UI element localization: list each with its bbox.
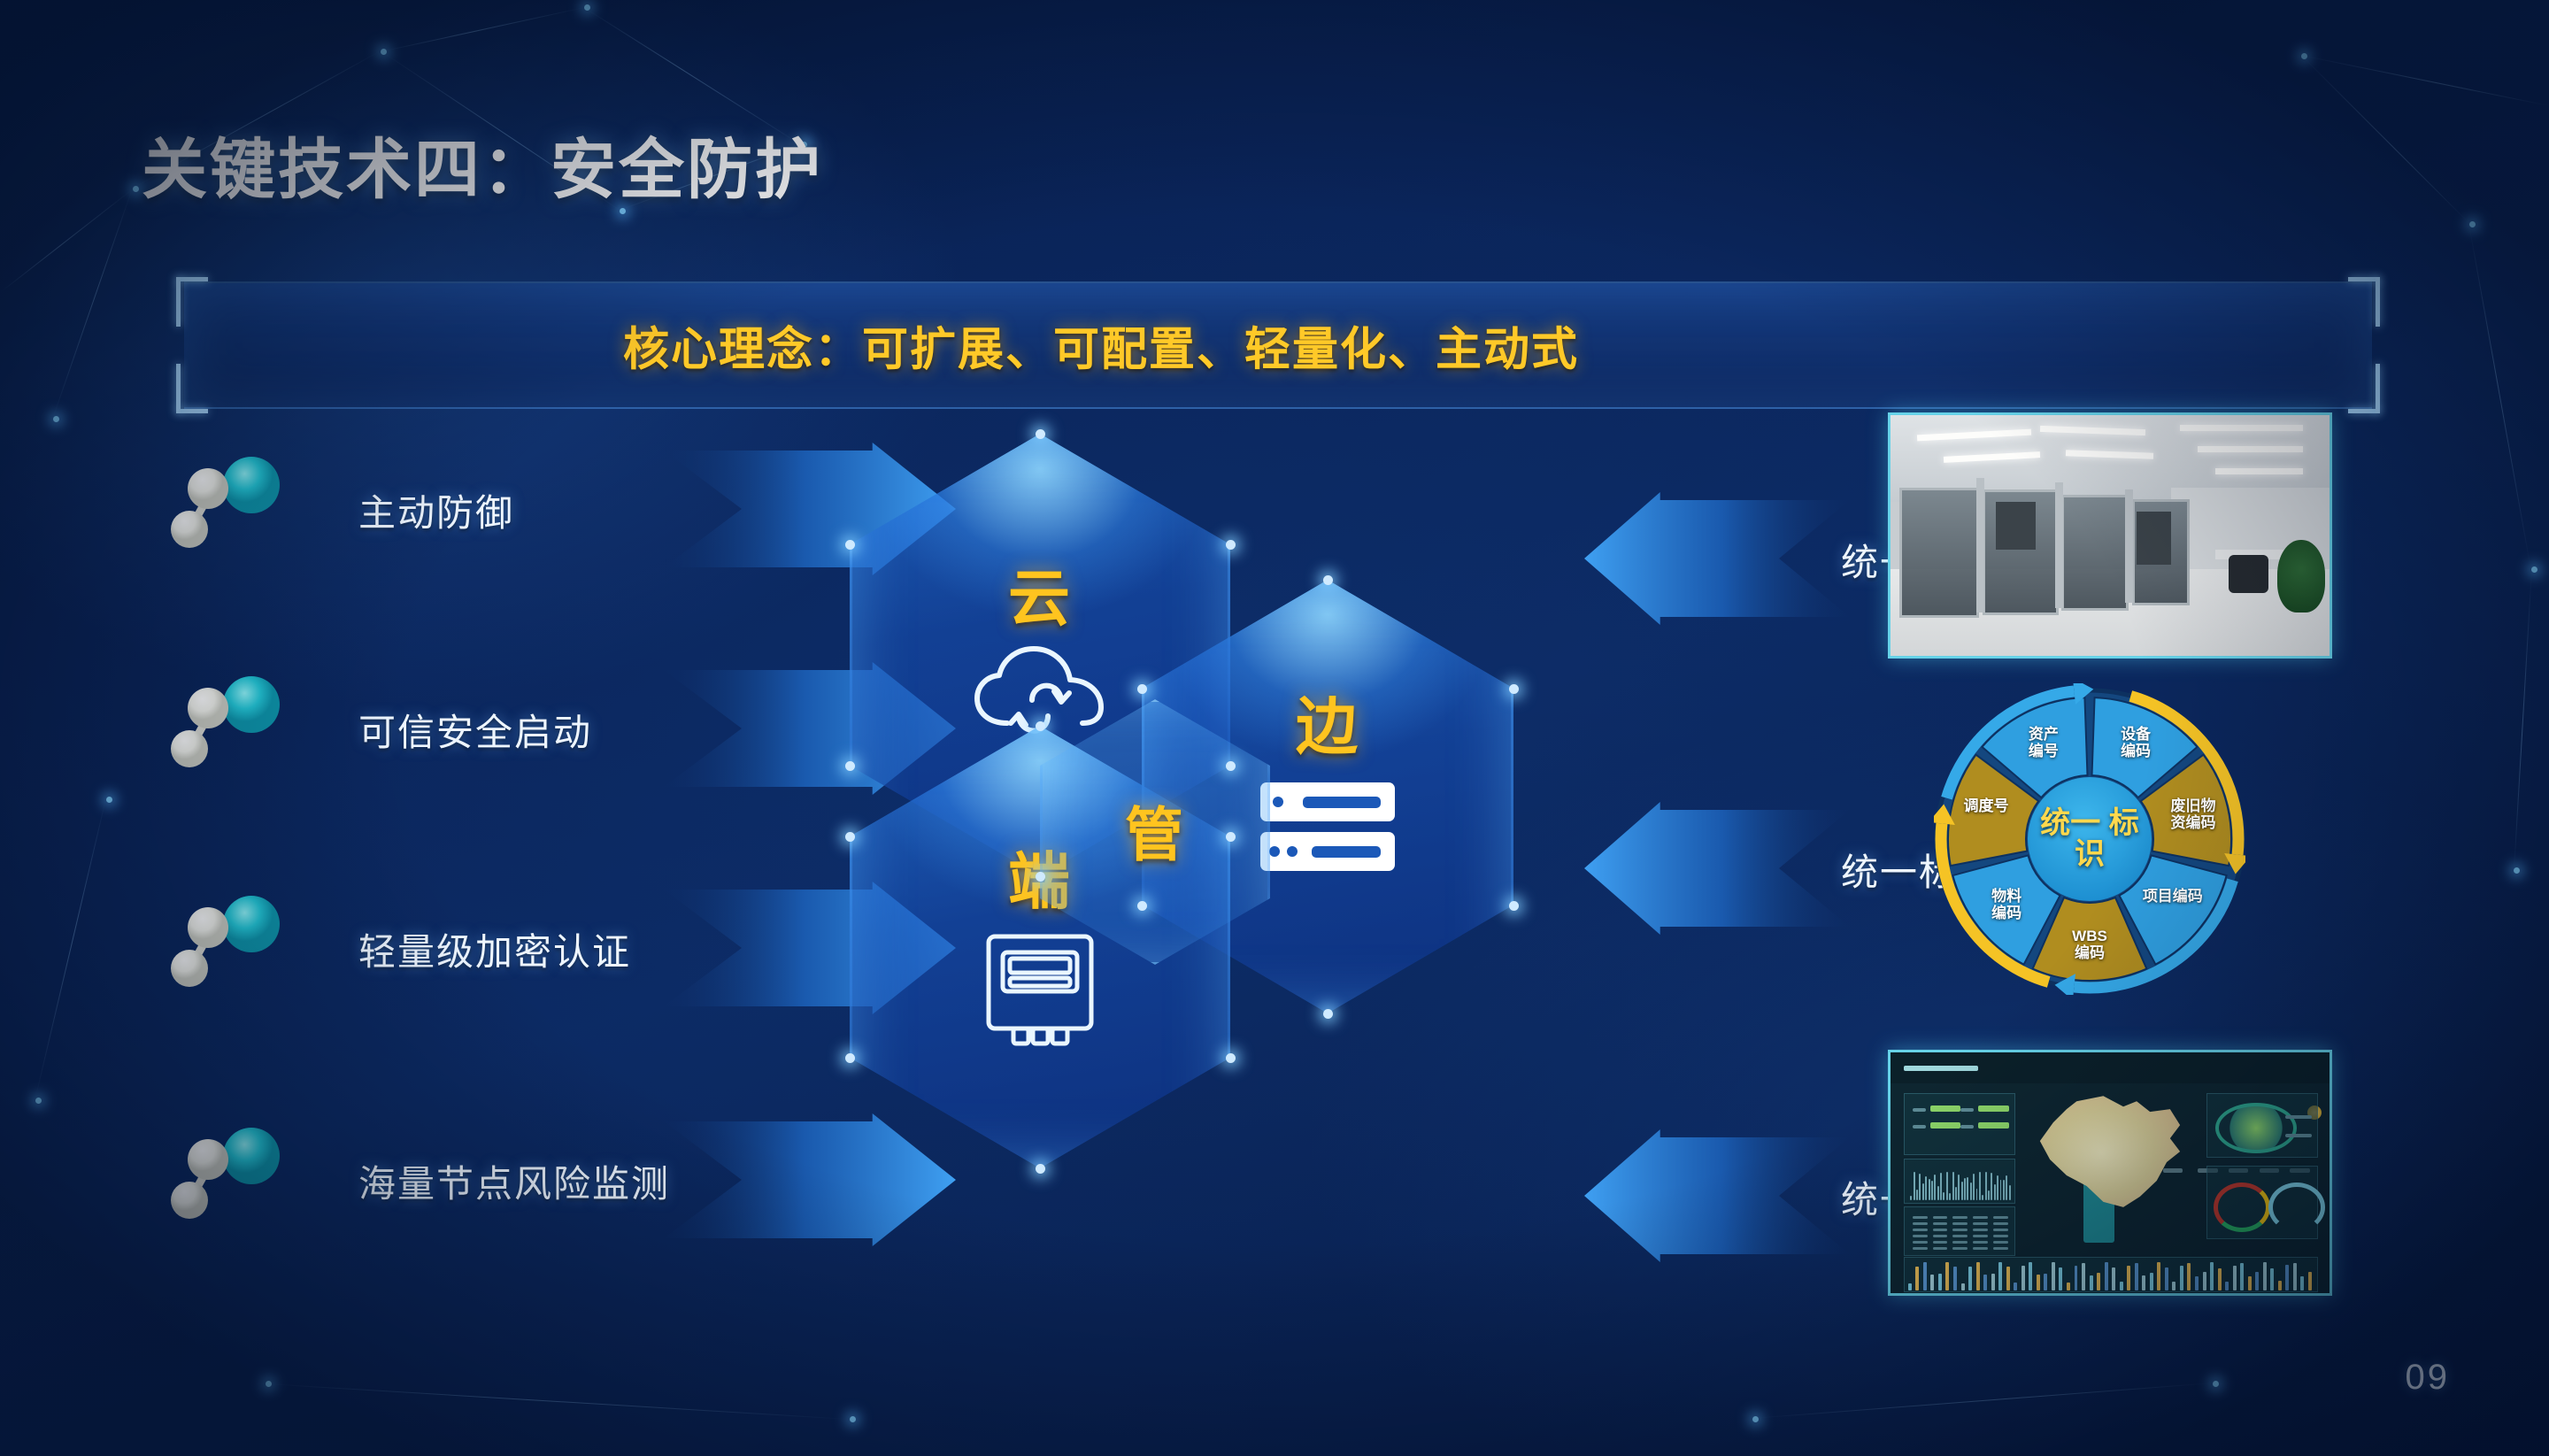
dashboard-menu-item[interactable] <box>2163 1168 2183 1173</box>
core-concept-text: 核心理念：可扩展、可配置、轻量化、主动式 <box>184 312 2372 379</box>
smart-meter-icon <box>978 929 1102 1054</box>
data-center-photo <box>1888 412 2332 659</box>
network-line <box>1752 1383 2213 1419</box>
network-line <box>52 189 133 419</box>
network-line <box>2301 55 2549 106</box>
network-line <box>0 189 134 293</box>
hexagon-vertex-dot <box>845 761 855 771</box>
monitoring-dashboard-screenshot <box>1888 1050 2332 1296</box>
unified-identification-wheel: 设备 编码废旧物 资编码项目编码WBS 编码物料 编码调度号资产 编号统一 标识 <box>1934 683 2245 995</box>
dashboard-title <box>1904 1066 1978 1071</box>
network-node <box>2469 221 2476 227</box>
hexagon-vertex-dot <box>1226 832 1236 842</box>
page-title: 关键技术四：安全防护 <box>142 117 823 212</box>
donut-segment-label: 废旧物 资编码 <box>2152 797 2234 831</box>
hexagon-vertex-dot <box>1323 1009 1333 1019</box>
hexagon-vertex-dot <box>1509 901 1519 911</box>
network-node <box>2213 1381 2219 1387</box>
feature-label: 海量节点风险监测 <box>358 1154 670 1208</box>
hexagon-vertex-dot <box>1226 761 1236 771</box>
hexagon-vertex-dot <box>845 832 855 842</box>
dashboard-donut-gauge-1 <box>2214 1183 2271 1232</box>
network-node <box>133 186 139 192</box>
arrow-left <box>1584 802 1850 935</box>
page-number: 09 <box>2406 1358 2451 1398</box>
hexagon-vertex-dot <box>1036 721 1045 731</box>
feature-label: 轻量级加密认证 <box>358 922 631 976</box>
hexagon-vertex-dot <box>1137 901 1147 911</box>
arrow-left <box>1584 1129 1850 1262</box>
network-node <box>1752 1416 1759 1422</box>
network-line <box>2514 569 2532 870</box>
network-node <box>584 4 590 11</box>
molecule-icon-wrap <box>168 892 301 998</box>
donut-segment-label: 设备 编码 <box>2095 726 2176 759</box>
hexagon-vertex-dot <box>1323 575 1333 585</box>
molecule-icon <box>168 1124 301 1230</box>
network-node <box>2531 566 2537 573</box>
network-line <box>266 1383 850 1420</box>
hexagon-vertex-dot <box>1509 684 1519 694</box>
network-node <box>106 797 112 803</box>
network-line <box>2468 224 2531 569</box>
core-concept-banner: 核心理念：可扩展、可配置、轻量化、主动式 <box>184 281 2372 409</box>
molecule-icon <box>168 673 301 779</box>
donut-segment-label: 资产 编号 <box>2003 726 2084 759</box>
molecule-icon-wrap <box>168 1124 301 1230</box>
arrow-left-icon <box>1584 492 1850 625</box>
hexagon-vertex-dot <box>1036 1164 1045 1174</box>
donut-segment-label: 项目编码 <box>2132 888 2214 905</box>
network-node <box>53 416 59 422</box>
feature-row-left[interactable]: 可信安全启动 <box>168 673 841 788</box>
donut-center-label: 统一 标识 <box>2028 808 2152 869</box>
arrow-left-icon <box>1584 1129 1850 1262</box>
feature-row-left[interactable]: 主动防御 <box>168 453 841 568</box>
network-line <box>2301 55 2470 224</box>
feature-row-left[interactable]: 海量节点风险监测 <box>168 1124 841 1239</box>
arrow-left-icon <box>1584 802 1850 935</box>
molecule-icon <box>168 892 301 998</box>
feature-label: 可信安全启动 <box>358 703 592 757</box>
donut-segment-label: 物料 编码 <box>1966 888 2047 921</box>
network-line <box>381 7 584 52</box>
network-line <box>35 799 106 1100</box>
network-node <box>2301 53 2307 59</box>
hexagon-vertex-dot <box>1036 872 1045 882</box>
hexagon-vertex-dot <box>1226 540 1236 550</box>
server-rack-icon <box>1257 779 1398 881</box>
network-node <box>850 1416 856 1422</box>
cloud-edge-device-hex-cluster: 云 边 <box>850 434 1575 1195</box>
hexagon-vertex-dot <box>845 1053 855 1063</box>
molecule-icon-wrap <box>168 673 301 779</box>
dashboard-donut-gauge-2 <box>2268 1183 2326 1232</box>
feature-row-left[interactable]: 轻量级加密认证 <box>168 892 841 1007</box>
molecule-icon-wrap <box>168 453 301 559</box>
network-node <box>266 1381 272 1387</box>
network-node <box>381 49 387 55</box>
donut-segment-label: 调度号 <box>1945 797 2027 814</box>
hexagon-cloud-label: 云 <box>850 549 1230 638</box>
donut-center: 统一 标识 <box>2028 777 2152 901</box>
arrow-left <box>1584 492 1850 625</box>
hexagon-pipe-label: 管 <box>1040 788 1270 873</box>
hexagon-vertex-dot <box>1036 429 1045 439</box>
dashboard-radar-gauge <box>2215 1103 2297 1153</box>
molecule-icon <box>168 453 301 559</box>
network-node <box>35 1098 42 1104</box>
slide-canvas: 关键技术四：安全防护 核心理念：可扩展、可配置、轻量化、主动式 主动防御 <box>0 0 2549 1456</box>
network-node <box>2514 867 2520 874</box>
donut-segment-label: WBS 编码 <box>2049 928 2130 961</box>
feature-label: 主动防御 <box>358 483 514 537</box>
hexagon-vertex-dot <box>1226 1053 1236 1063</box>
hexagon-vertex-dot <box>845 540 855 550</box>
hexagon-vertex-dot <box>1137 684 1147 694</box>
